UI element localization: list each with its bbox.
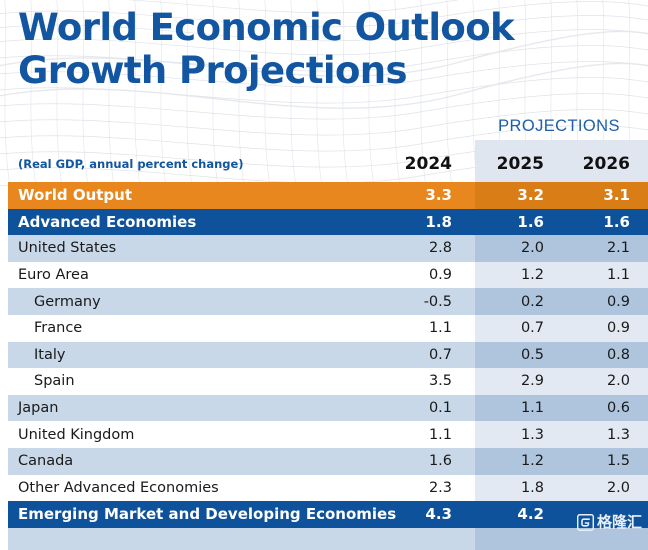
table-row: Canada1.61.21.5 bbox=[8, 448, 648, 475]
table-row: Germany-0.50.20.9 bbox=[8, 288, 648, 315]
table-header-row: (Real GDP, annual percent change) 2024 2… bbox=[8, 146, 648, 182]
table-row: Advanced Economies1.81.61.6 bbox=[8, 209, 648, 236]
row-value-2025: 0.7 bbox=[468, 320, 560, 336]
row-label: United States bbox=[8, 240, 380, 256]
row-value-2025: 2.0 bbox=[468, 240, 560, 256]
row-label: France bbox=[8, 320, 380, 336]
table-row: Japan0.11.10.6 bbox=[8, 395, 648, 422]
row-value-2025: 2.9 bbox=[468, 373, 560, 389]
row-value-2026: 1.3 bbox=[560, 427, 648, 443]
row-label: Spain bbox=[8, 373, 380, 389]
column-header-2024: 2024 bbox=[380, 154, 468, 174]
row-value-2025: 3.2 bbox=[468, 186, 560, 204]
row-value-2024: 1.1 bbox=[380, 427, 468, 443]
row-label: Euro Area bbox=[8, 267, 380, 283]
row-label: Canada bbox=[8, 453, 380, 469]
table-row: Spain3.52.92.0 bbox=[8, 368, 648, 395]
row-value-2026: 1.1 bbox=[560, 267, 648, 283]
column-header-2025: 2025 bbox=[468, 154, 560, 174]
row-value-2025: 0.5 bbox=[468, 347, 560, 363]
page-title: World Economic Outlook Growth Projection… bbox=[18, 6, 618, 92]
table-row: Euro Area0.91.21.1 bbox=[8, 262, 648, 289]
row-value-2024: 0.7 bbox=[380, 347, 468, 363]
title-line-2: Growth Projections bbox=[18, 49, 618, 92]
row-value-2026: 0.6 bbox=[560, 400, 648, 416]
row-value-2024: 0.9 bbox=[380, 267, 468, 283]
row-value-2024: 1.8 bbox=[380, 213, 468, 231]
row-value-2024: 0.1 bbox=[380, 400, 468, 416]
row-label: Italy bbox=[8, 347, 380, 363]
projections-group-label: PROJECTIONS bbox=[478, 117, 640, 136]
row-value-2024: 2.3 bbox=[380, 480, 468, 496]
row-value-2025: 1.3 bbox=[468, 427, 560, 443]
table-row bbox=[8, 528, 648, 550]
table-subtitle: (Real GDP, annual percent change) bbox=[8, 157, 380, 171]
row-value-2024: 4.3 bbox=[380, 505, 468, 523]
column-header-2026: 2026 bbox=[560, 154, 648, 174]
row-label: Emerging Market and Developing Economies bbox=[8, 505, 380, 523]
row-value-2025: 1.6 bbox=[468, 213, 560, 231]
row-value-2025: 1.8 bbox=[468, 480, 560, 496]
row-label: Japan bbox=[8, 400, 380, 416]
table-row: United States2.82.02.1 bbox=[8, 235, 648, 262]
row-value-2026: 1.5 bbox=[560, 453, 648, 469]
row-value-2024: 2.8 bbox=[380, 240, 468, 256]
row-value-2026: 2.0 bbox=[560, 373, 648, 389]
table-row: France1.10.70.9 bbox=[8, 315, 648, 342]
row-value-2026: 3.1 bbox=[560, 186, 648, 204]
row-value-2026: 2.1 bbox=[560, 240, 648, 256]
row-value-2024: 1.1 bbox=[380, 320, 468, 336]
row-value-2025: 0.2 bbox=[468, 294, 560, 310]
table-row: Italy0.70.50.8 bbox=[8, 342, 648, 369]
row-label: United Kingdom bbox=[8, 427, 380, 443]
table-row: Emerging Market and Developing Economies… bbox=[8, 501, 648, 528]
row-value-2026: 0.9 bbox=[560, 320, 648, 336]
table-row: Other Advanced Economies2.31.82.0 bbox=[8, 475, 648, 502]
row-value-2024: 3.5 bbox=[380, 373, 468, 389]
projections-band bbox=[475, 528, 648, 550]
row-value-2025: 1.2 bbox=[468, 267, 560, 283]
row-label: World Output bbox=[8, 186, 380, 204]
row-value-2026: 0.9 bbox=[560, 294, 648, 310]
row-value-2025: 1.2 bbox=[468, 453, 560, 469]
row-value-2026: 1.6 bbox=[560, 213, 648, 231]
row-value-2024: 1.6 bbox=[380, 453, 468, 469]
row-value-2025: 4.2 bbox=[468, 505, 560, 523]
title-line-1: World Economic Outlook bbox=[18, 6, 618, 49]
row-label: Other Advanced Economies bbox=[8, 480, 380, 496]
table-row: United Kingdom1.11.31.3 bbox=[8, 421, 648, 448]
row-label: Germany bbox=[8, 294, 380, 310]
row-value-2026: 2.0 bbox=[560, 480, 648, 496]
row-value-2026: 0.8 bbox=[560, 347, 648, 363]
row-value-2025: 1.1 bbox=[468, 400, 560, 416]
infographic-page: World Economic Outlook Growth Projection… bbox=[0, 0, 648, 550]
table-row: World Output3.33.23.1 bbox=[8, 182, 648, 209]
row-value-2024: -0.5 bbox=[380, 294, 468, 310]
row-value-2024: 3.3 bbox=[380, 186, 468, 204]
row-label: Advanced Economies bbox=[8, 213, 380, 231]
projections-table: World Output3.33.23.1Advanced Economies1… bbox=[8, 182, 648, 550]
